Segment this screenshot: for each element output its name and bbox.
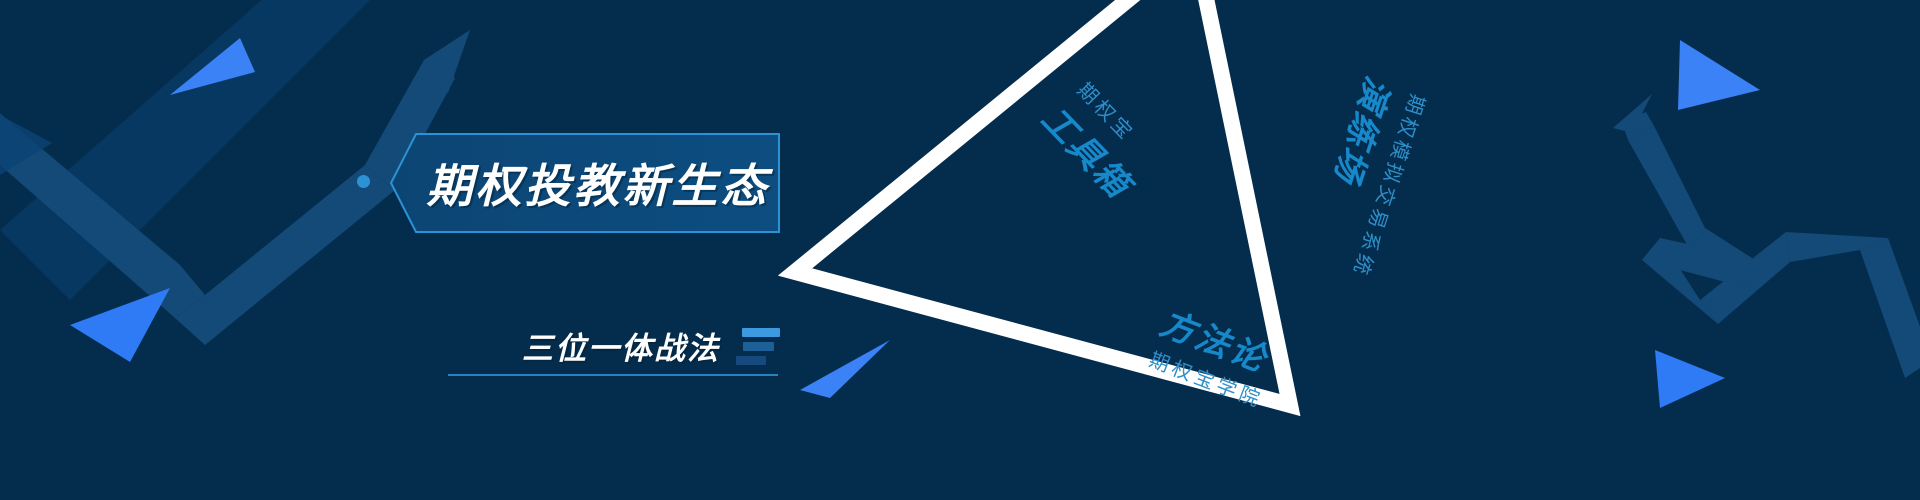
triangle-top-left <box>170 38 255 95</box>
subtitle-row: 三位一体战法 <box>445 322 780 368</box>
page-title: 期权投教新生态 <box>390 133 780 233</box>
title-connector-dot <box>357 175 370 188</box>
triangle-label-methodology: 方法论 期权宝学院 <box>1144 296 1286 413</box>
diagonal-band <box>0 0 430 300</box>
title-banner: 期权投教新生态 <box>390 133 780 233</box>
bar-bottom-icon <box>736 356 766 365</box>
triangle-far-left-edge <box>0 115 52 175</box>
bar-top-icon <box>742 328 780 337</box>
three-bars-icon <box>736 328 780 365</box>
triangle-center-bottom <box>800 340 890 398</box>
bar-middle-icon <box>743 342 774 351</box>
triangle-top-right <box>1678 40 1760 110</box>
triangle-label-toolbox: 期权宝 工具箱 <box>1032 72 1167 207</box>
background-decoration <box>0 0 1920 500</box>
subtitle-text: 三位一体战法 <box>522 323 720 368</box>
promo-banner: 期权投教新生态 三位一体战法 期权宝 工具箱 期权模拟交易系统 演练场 方法论 … <box>0 0 1920 500</box>
triangle-label-arena: 期权模拟交易系统 演练场 <box>1298 71 1435 282</box>
triangle-bottom-right <box>1655 350 1725 408</box>
zigzag-chart-line-right <box>1613 94 1920 378</box>
subtitle-underline <box>448 374 778 376</box>
triangle-bottom-left <box>70 288 170 362</box>
